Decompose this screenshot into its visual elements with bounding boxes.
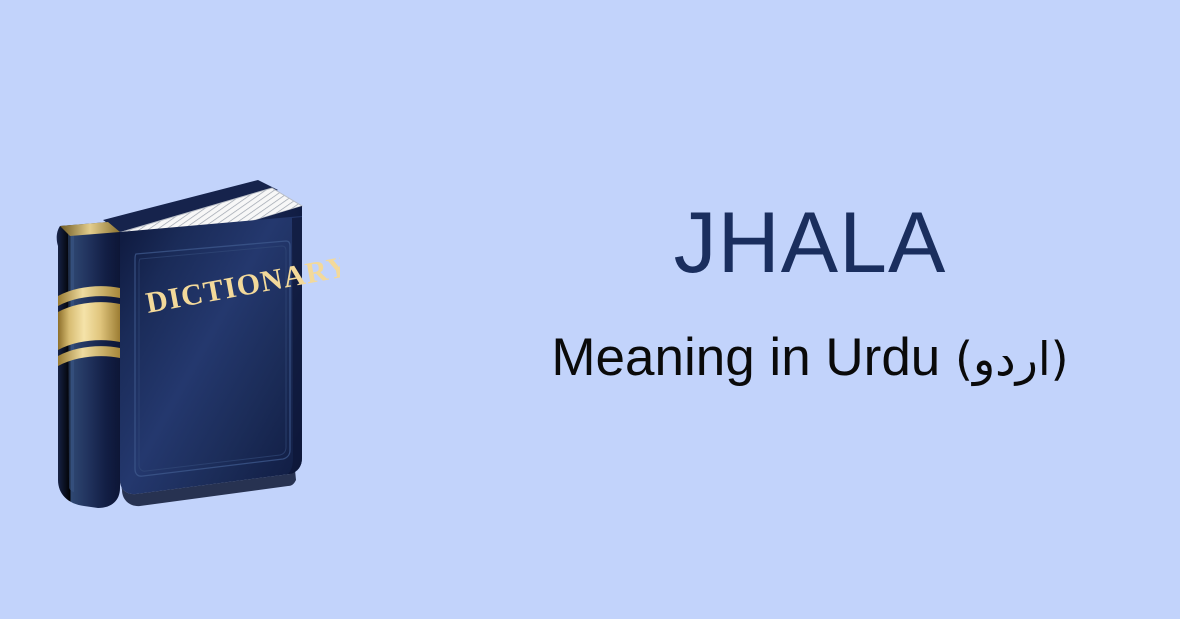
- dictionary-book-icon: DICTIONARY: [40, 128, 340, 520]
- subtitle-urdu-text: (اردو): [955, 332, 1069, 386]
- page-title: JHALA: [440, 200, 1180, 286]
- page-root: DICTIONARY JHALA Meaning in Urdu (اردو): [0, 0, 1180, 619]
- word-text-block: JHALA Meaning in Urdu (اردو): [440, 200, 1180, 387]
- subtitle: Meaning in Urdu (اردو): [440, 328, 1180, 387]
- subtitle-english-text: Meaning in Urdu: [551, 328, 940, 387]
